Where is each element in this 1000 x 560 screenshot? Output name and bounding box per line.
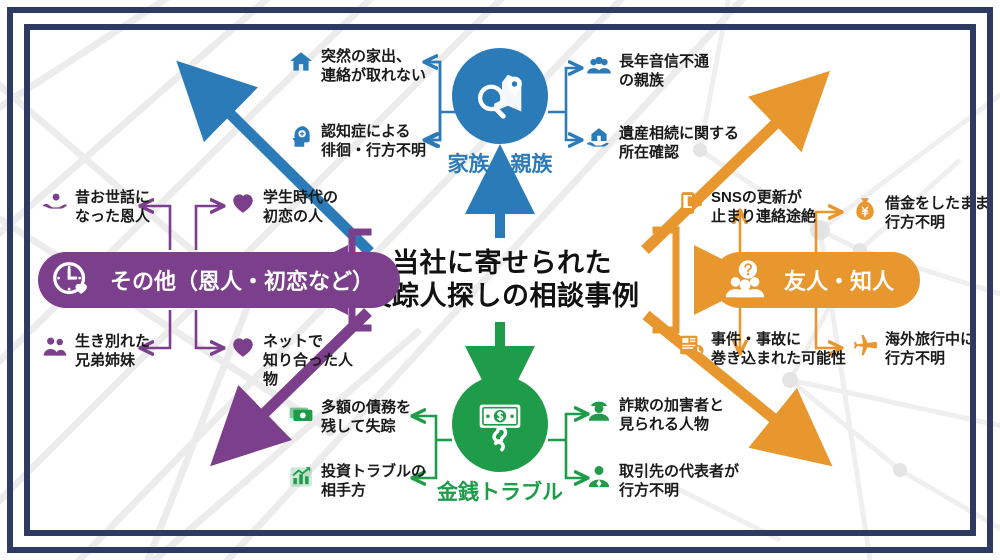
friends-label: 友人・知人	[784, 264, 894, 296]
leaf-family-1-text: 認知症による 徘徊・行方不明	[321, 122, 426, 160]
leaf-money-0-text: 多額の債務を 残して失踪	[321, 398, 411, 436]
friends-pill: 友人・知人	[712, 252, 920, 308]
leaf-family-3[interactable]: 遺産相続に関する 所在確認	[586, 124, 766, 162]
other-pill: その他（恩人・初恋など）	[38, 252, 400, 308]
leaf-family-2[interactable]: 長年音信不通 の親族	[586, 52, 746, 90]
leaf-friends-3-text: 海外旅行中に 行方不明	[885, 330, 975, 368]
bar-chart-icon	[288, 464, 314, 490]
leaf-friends-3[interactable]: 海外旅行中に 行方不明	[852, 330, 992, 368]
other-label: その他（恩人・初恋など）	[110, 264, 374, 296]
money-bag-icon	[852, 196, 878, 222]
newspaper-icon	[678, 332, 704, 358]
group-people-icon	[586, 54, 612, 80]
house-icon	[288, 49, 314, 75]
heart-icon	[230, 334, 256, 360]
people-question-icon	[723, 257, 769, 303]
link-money-right-c	[566, 440, 586, 478]
leaf-friends-2-text: 事件・事故に 巻き込まれた可能性	[711, 330, 846, 368]
money-circle	[452, 376, 548, 472]
leaf-friends-1[interactable]: 借金をしたまま 行方不明	[852, 194, 992, 232]
leaf-money-3[interactable]: 取引先の代表者が 行方不明	[586, 462, 761, 500]
leaf-other-2[interactable]: 生き別れた 兄弟姉妹	[42, 332, 162, 370]
leaf-family-3-text: 遺産相続に関する 所在確認	[619, 124, 739, 162]
leaf-friends-0[interactable]: SNSの更新が 止まり連絡途絶	[678, 188, 828, 226]
leaf-friends-0-text: SNSの更新が 止まり連絡途絶	[711, 188, 816, 226]
leaf-other-3[interactable]: ネットで 知り合った人物	[230, 332, 360, 390]
bracket-right	[656, 230, 676, 330]
leaf-money-2-text: 詐欺の加害者と 見られる人物	[619, 396, 724, 434]
person-on-hand-icon	[42, 190, 68, 216]
leaf-money-1[interactable]: 投資トラブルの 相手方	[288, 462, 433, 500]
businessman-icon	[586, 464, 612, 490]
family-circle	[452, 48, 548, 144]
two-people-icon	[42, 334, 68, 360]
leaf-other-3-text: ネットで 知り合った人物	[263, 332, 360, 390]
hub-title-line-1: 当社に寄せられた	[392, 247, 612, 280]
link-other-bot-right	[196, 310, 222, 348]
link-money-right-b	[566, 414, 586, 440]
leaf-friends-1-text: 借金をしたまま 行方不明	[885, 194, 990, 232]
leaf-family-0-text: 突然の家出、 連絡が取れない	[321, 47, 426, 85]
leaf-money-3-text: 取引先の代表者が 行方不明	[619, 462, 739, 500]
person-cap-icon	[586, 398, 612, 424]
leaf-other-0[interactable]: 昔お世話に なった恩人	[42, 188, 162, 226]
map-search-icon	[469, 65, 531, 127]
leaf-money-1-text: 投資トラブルの 相手方	[321, 462, 426, 500]
friends-pill-icon-wrap	[718, 252, 774, 308]
leaf-other-2-text: 生き別れた 兄弟姉妹	[75, 332, 150, 370]
category-node-family[interactable]: 家族・親族	[452, 48, 548, 178]
clock-heart-icon	[49, 257, 95, 303]
category-node-money[interactable]: 金銭トラブル	[452, 376, 548, 506]
link-other-top-right	[196, 206, 222, 250]
category-node-friends[interactable]: 友人・知人	[712, 252, 920, 308]
leaf-family-2-text: 長年音信不通 の親族	[619, 52, 709, 90]
infographic-canvas: 当社に寄せられた 失踪人探しの相談事例 家族・親族 突然の家出、 連絡が取れない…	[0, 0, 1000, 560]
leaf-other-1-text: 学生時代の 初恋の人	[263, 188, 338, 226]
category-node-other[interactable]: その他（恩人・初恋など）	[38, 252, 400, 308]
leaf-money-0[interactable]: 多額の債務を 残して失踪	[288, 398, 428, 436]
leaf-other-0-text: 昔お世話に なった恩人	[75, 188, 150, 226]
heart-icon	[230, 190, 256, 216]
smartphone-chat-icon	[678, 190, 704, 216]
other-pill-icon-wrap	[44, 252, 100, 308]
link-family-right-b	[566, 68, 580, 112]
leaf-money-2[interactable]: 詐欺の加害者と 見られる人物	[586, 396, 746, 434]
arrow-center-to-upper-left	[206, 90, 370, 252]
head-brain-icon	[288, 124, 314, 150]
leaf-other-1[interactable]: 学生時代の 初恋の人	[230, 188, 350, 226]
hub-title-line-2: 失踪人探しの相談事例	[365, 280, 640, 313]
leaf-family-1[interactable]: 認知症による 徘徊・行方不明	[288, 122, 438, 160]
leaf-friends-2[interactable]: 事件・事故に 巻き込まれた可能性	[678, 330, 848, 368]
money-label: 金銭トラブル	[437, 476, 563, 506]
house-on-hand-icon	[586, 126, 612, 152]
banknote-chain-icon	[469, 393, 531, 455]
airplane-icon	[852, 332, 878, 358]
banknotes-icon	[288, 400, 314, 426]
family-label: 家族・親族	[448, 148, 553, 178]
link-family-right-c	[566, 112, 580, 140]
leaf-family-0[interactable]: 突然の家出、 連絡が取れない	[288, 47, 438, 85]
